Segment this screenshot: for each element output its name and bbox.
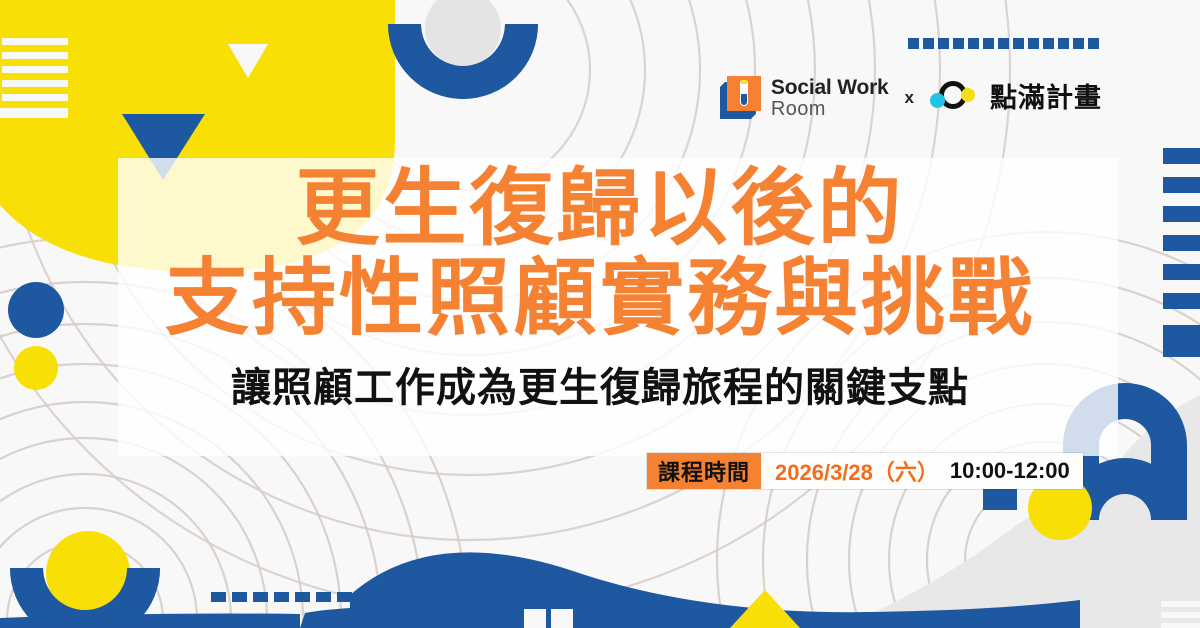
schedule-time: 10:00-12:00	[950, 458, 1070, 484]
schedule-date: 2026/3/28（六）	[775, 455, 939, 487]
social-work-room-line2: Room	[771, 99, 889, 119]
yellow-circle-left	[14, 346, 58, 390]
schedule-bar: 課程時間 2026/3/28（六） 10:00-12:00	[647, 453, 1083, 489]
dian-man-plan-logo[interactable]: 點滿計畫	[930, 80, 1102, 116]
schedule-label: 課程時間	[647, 453, 761, 489]
circle-ring-icon	[930, 80, 982, 116]
test-tube-icon	[720, 76, 762, 120]
partner-separator: x	[903, 88, 916, 108]
gray-stripes-corner-bottom-right	[1161, 601, 1200, 628]
promo-banner: Social Work Room x 點滿計畫 更生復歸以後的 支持性照顧實務與…	[0, 0, 1200, 628]
logo-bar: Social Work Room x 點滿計畫	[720, 72, 1102, 124]
dian-man-plan-text: 點滿計畫	[990, 85, 1102, 112]
schedule-value: 2026/3/28（六） 10:00-12:00	[761, 453, 1083, 489]
social-work-room-line1: Social Work	[771, 77, 889, 98]
gray-corner-block	[1120, 588, 1200, 628]
content-panel	[118, 158, 1118, 456]
blue-circle-left	[8, 282, 64, 338]
social-work-room-logo[interactable]: Social Work Room	[720, 76, 889, 120]
